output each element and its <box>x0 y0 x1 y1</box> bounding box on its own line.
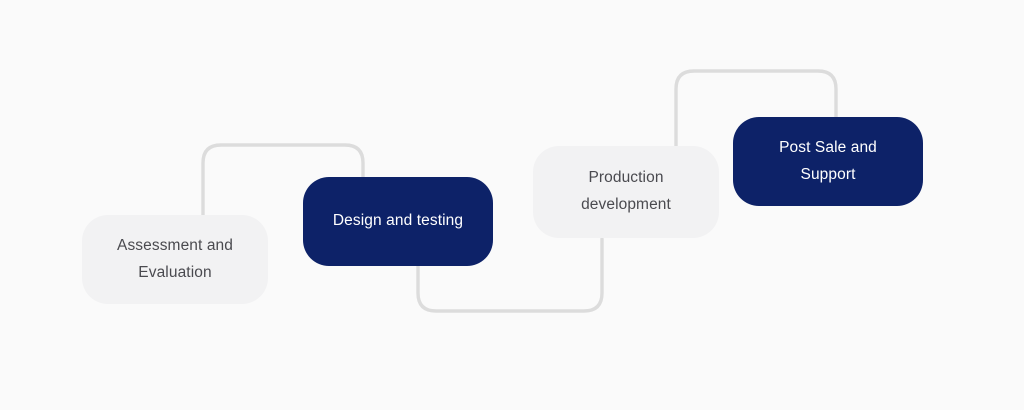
node-label: Design and testing <box>333 208 463 235</box>
node-post-sale-and-support[interactable]: Post Sale and Support <box>733 117 923 206</box>
node-label: Production development <box>581 165 671 218</box>
node-assessment-and-evaluation[interactable]: Assessment and Evaluation <box>82 215 268 304</box>
diagram-canvas: Assessment and Evaluation Design and tes… <box>0 0 1024 410</box>
node-label: Assessment and Evaluation <box>117 233 233 286</box>
node-label: Post Sale and Support <box>779 135 877 188</box>
node-design-and-testing[interactable]: Design and testing <box>303 177 493 266</box>
node-production-development[interactable]: Production development <box>533 146 719 238</box>
